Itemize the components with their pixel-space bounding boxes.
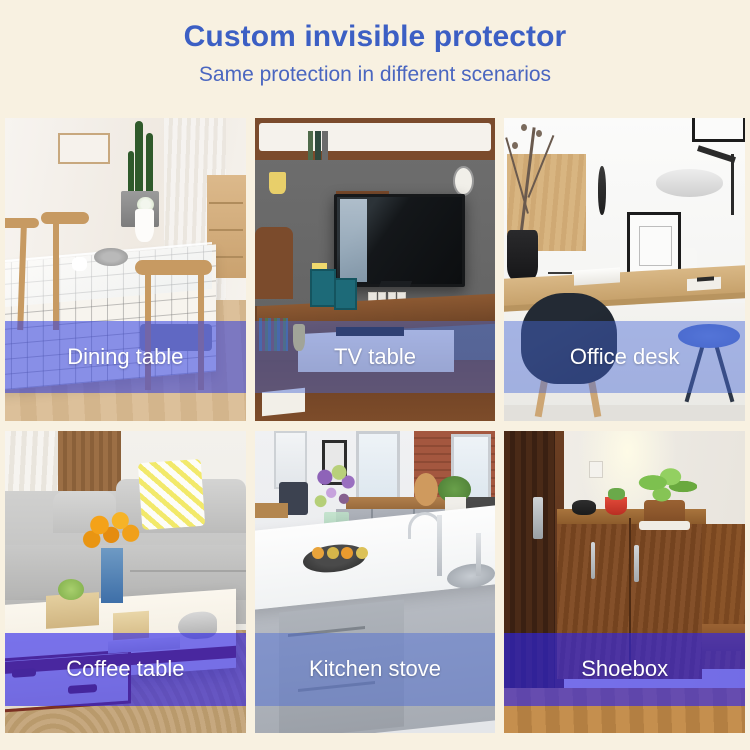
tile-label-band: Coffee table (5, 633, 246, 706)
tile-label: TV table (334, 344, 416, 370)
tile-label-band: Kitchen stove (255, 633, 496, 706)
tile-label-band: Office desk (504, 321, 745, 394)
scenario-tile-tv-table[interactable]: TV table (255, 118, 496, 421)
tile-label-band: Dining table (5, 321, 246, 394)
page-title: Custom invisible protector (0, 20, 750, 55)
tile-label-band: TV table (255, 321, 496, 394)
scenario-tile-coffee-table[interactable]: Coffee table (5, 431, 246, 734)
tile-label: Dining table (67, 344, 183, 370)
page-subtitle: Same protection in different scenarios (0, 63, 750, 87)
product-infographic: Custom invisible protector Same protecti… (0, 0, 750, 750)
scenario-grid: Dining table (5, 118, 745, 733)
scenario-tile-shoebox[interactable]: Shoebox (504, 431, 745, 734)
header: Custom invisible protector Same protecti… (0, 0, 750, 87)
tile-label: Coffee table (66, 656, 184, 682)
tile-label: Shoebox (581, 656, 668, 682)
tile-label: Kitchen stove (309, 656, 441, 682)
tile-label-band: Shoebox (504, 633, 745, 706)
scenario-tile-office-desk[interactable]: Office desk (504, 118, 745, 421)
scenario-tile-dining-table[interactable]: Dining table (5, 118, 246, 421)
tile-label: Office desk (570, 344, 680, 370)
scenario-tile-kitchen-stove[interactable]: Kitchen stove (255, 431, 496, 734)
